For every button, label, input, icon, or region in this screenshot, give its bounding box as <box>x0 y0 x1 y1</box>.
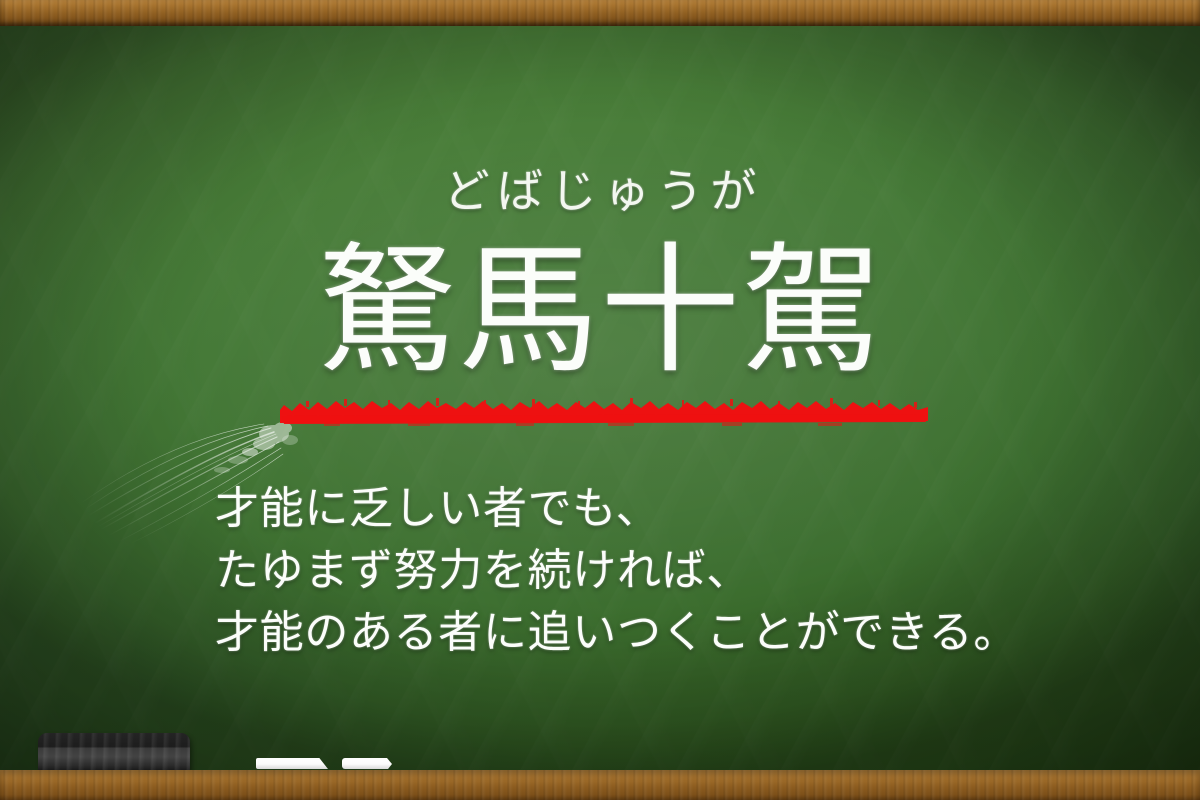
frame-top <box>0 0 1200 26</box>
chalk-stick-1 <box>256 758 328 769</box>
meaning-line-3: 才能のある者に追いつくことができる。 <box>215 602 1155 664</box>
red-chalk-underline-icon <box>278 392 930 426</box>
yojijukugo-headline: 駑馬十駕 <box>317 242 883 382</box>
blackboard-eraser <box>38 733 190 771</box>
slide-content: どばじゅうが 駑馬十駕 <box>0 0 1200 800</box>
furigana-reading: どばじゅうが <box>0 155 1200 221</box>
frame-bottom-ledge <box>0 770 1200 800</box>
meaning-text: 才能に乏しい者でも、 たゆまず努力を続ければ、 才能のある者に追いつくことができ… <box>215 478 1155 664</box>
chalkboard-slide: どばじゅうが 駑馬十駕 <box>0 0 1200 800</box>
chalk-stick-2 <box>342 758 392 769</box>
meaning-line-2: たゆまず努力を続ければ、 <box>215 540 1155 602</box>
headline-wrapper: 駑馬十駕 <box>0 242 1200 382</box>
meaning-line-1: 才能に乏しい者でも、 <box>215 478 1155 540</box>
